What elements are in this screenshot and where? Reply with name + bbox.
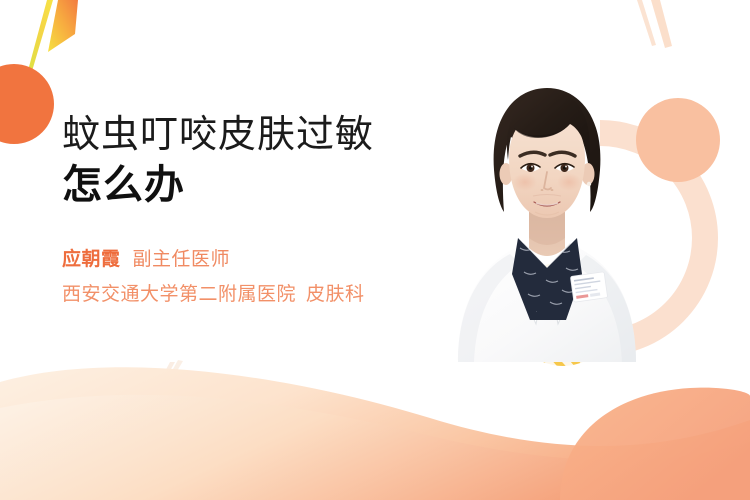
text-block: 蚊虫叮咬皮肤过敏 怎么办 应朝霞副主任医师 西安交通大学第二附属医院皮肤科 (62, 112, 462, 310)
byline-doctor: 应朝霞副主任医师 (62, 246, 462, 274)
department-name: 皮肤科 (306, 284, 365, 305)
doctor-name: 应朝霞 (62, 249, 121, 270)
promo-card: 蚊虫叮咬皮肤过敏 怎么办 应朝霞副主任医师 西安交通大学第二附属医院皮肤科 (0, 0, 750, 500)
doctor-portrait-image (432, 62, 662, 362)
page-title-line1: 蚊虫叮咬皮肤过敏 (62, 112, 462, 158)
hospital-name: 西安交通大学第二附属医院 (62, 284, 296, 305)
orange-circle-icon (0, 64, 54, 144)
byline: 应朝霞副主任医师 西安交通大学第二附属医院皮肤科 (62, 246, 462, 310)
streak-top-right-icon (637, 0, 672, 48)
id-badge (570, 272, 607, 302)
byline-hospital: 西安交通大学第二附属医院皮肤科 (62, 280, 462, 310)
doctor-title: 副主任医师 (133, 249, 231, 270)
bottom-wave-right (560, 388, 750, 500)
earring-right (587, 182, 591, 186)
streak-top-left-icon (26, 0, 78, 78)
doctor-portrait (432, 62, 662, 362)
page-title-line2: 怎么办 (62, 160, 462, 210)
